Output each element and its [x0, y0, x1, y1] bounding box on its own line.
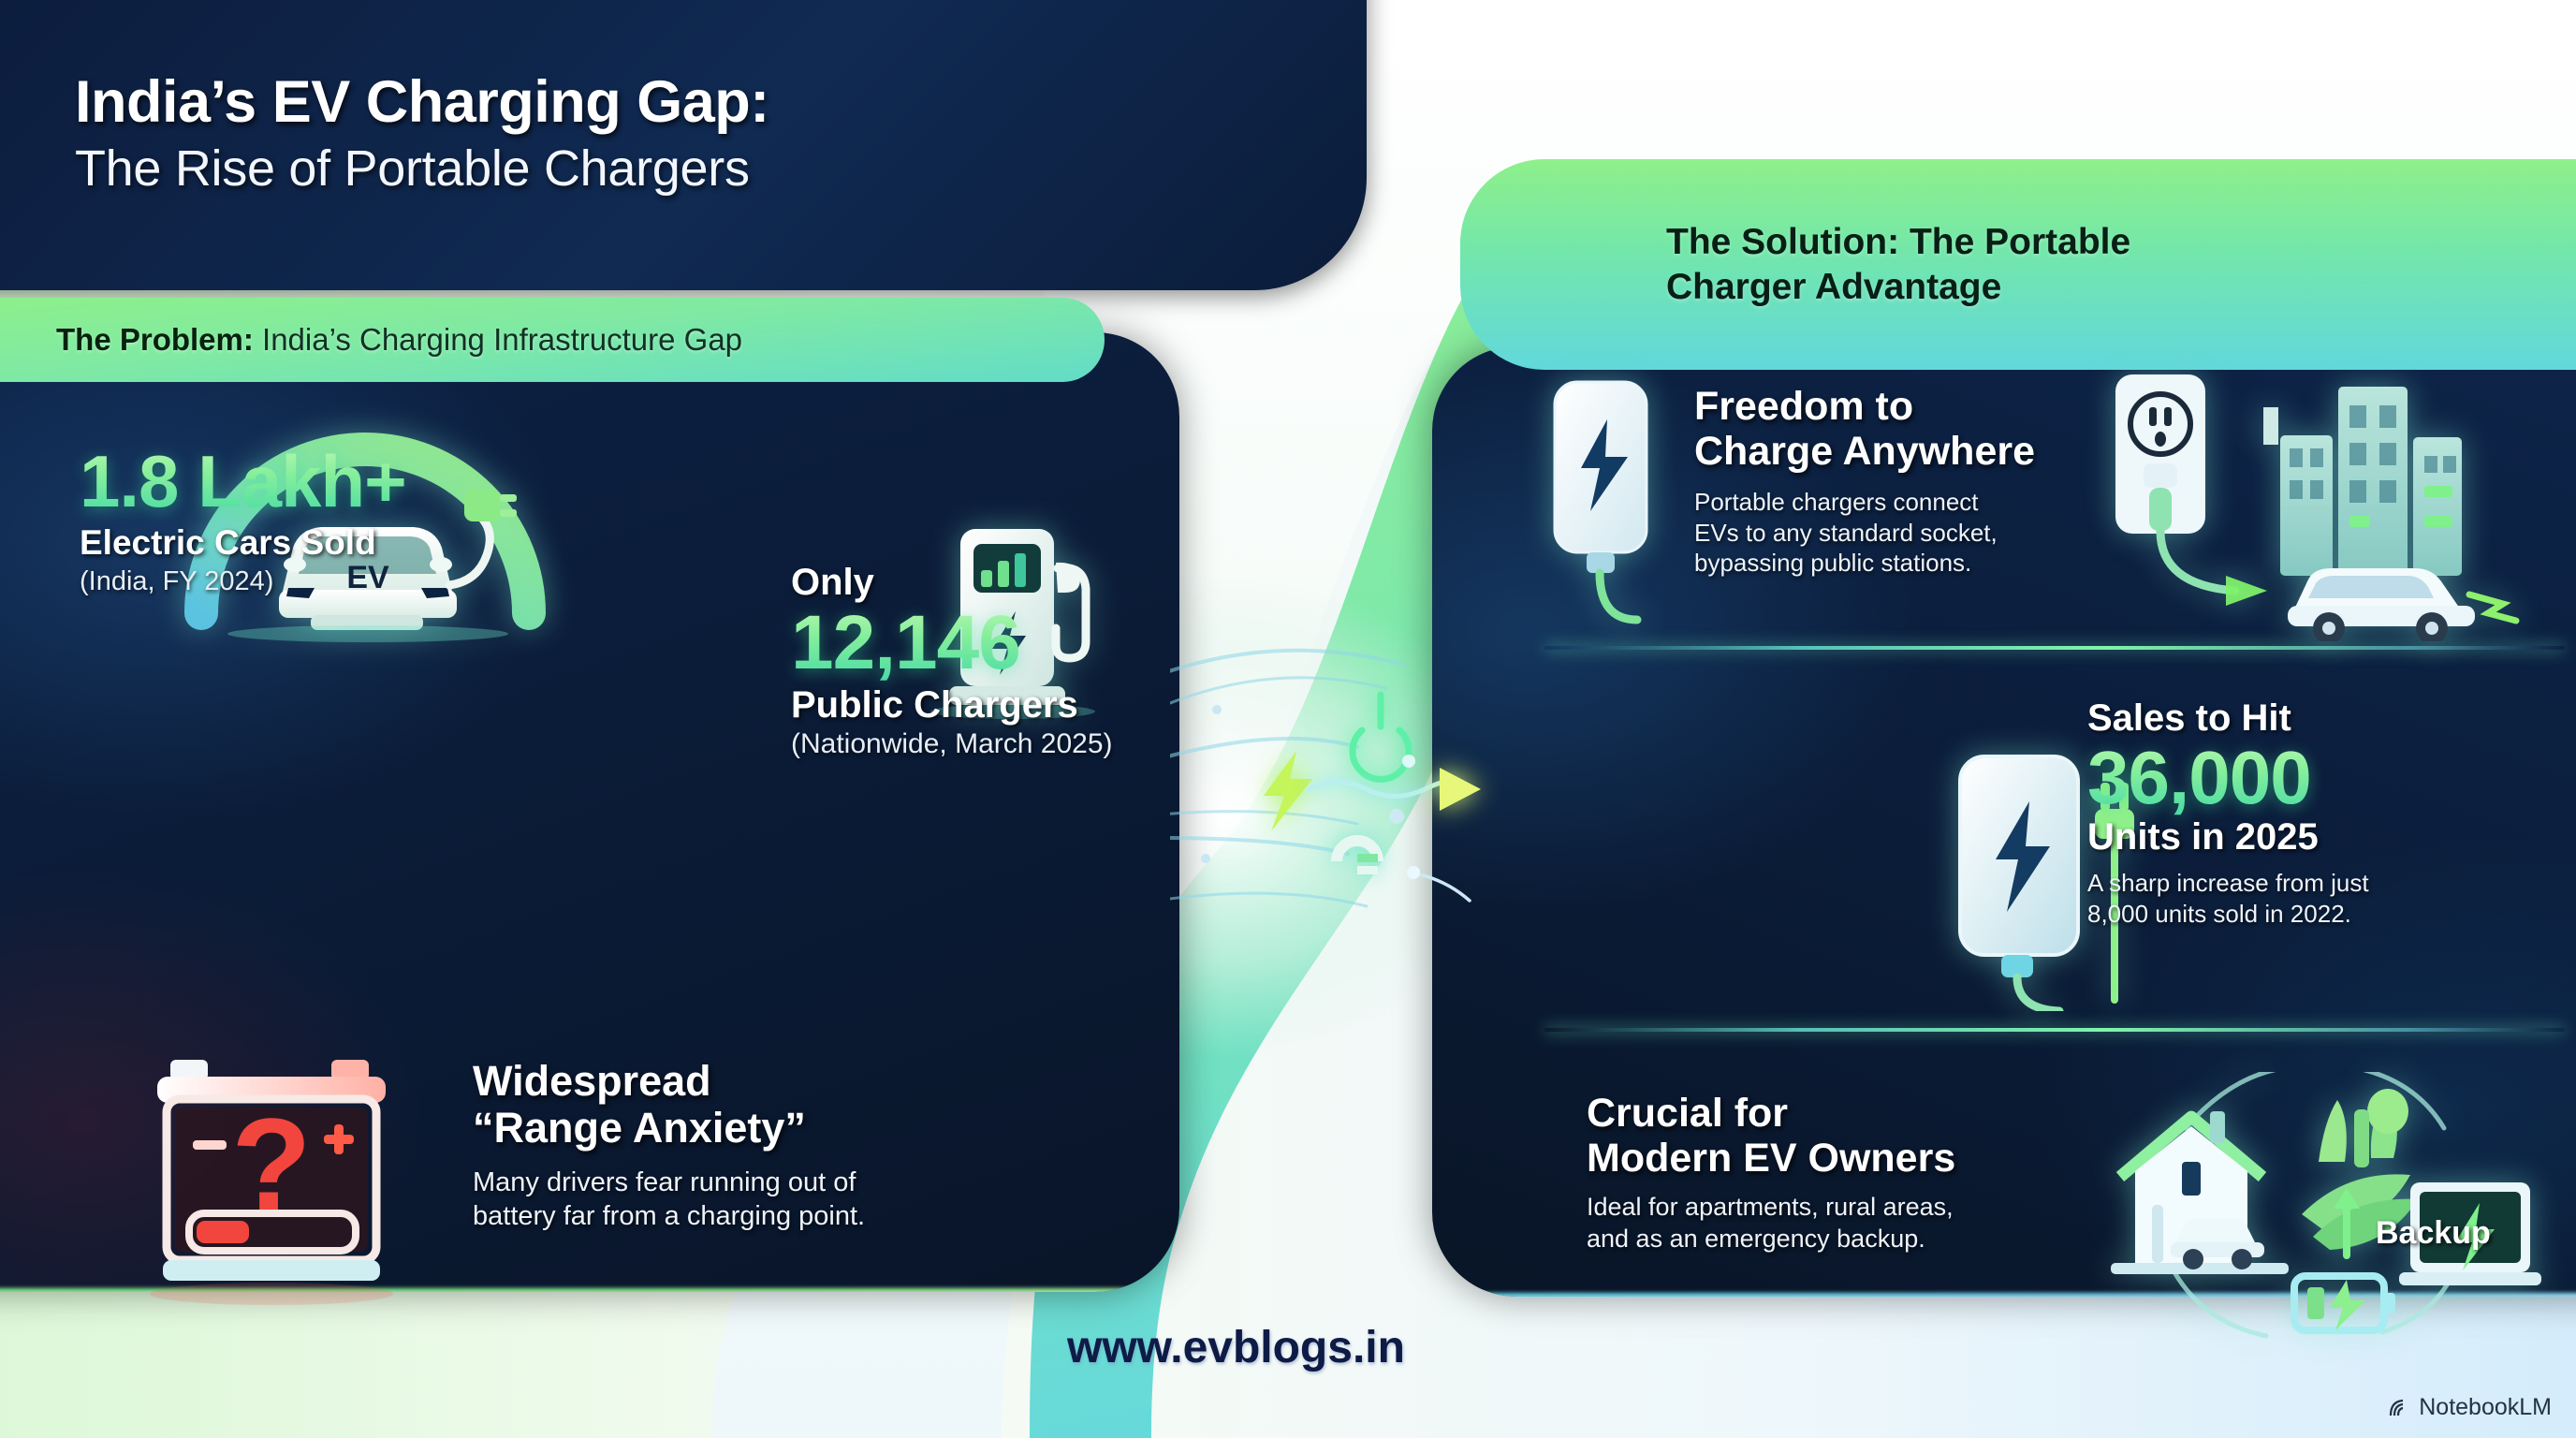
- freedom-body-2: EVs to any standard socket,: [1694, 518, 2106, 549]
- notebooklm-badge: NotebookLM: [2386, 1394, 2552, 1421]
- crucial-head-2: Modern EV Owners: [1587, 1136, 2092, 1181]
- range-anxiety-head-1: Widespread: [473, 1058, 1044, 1105]
- lightning-bolt-icon: [1264, 751, 1312, 831]
- divider-solution-2: [1544, 1028, 2565, 1032]
- crucial-block: Crucial for Modern EV Owners Ideal for a…: [1587, 1091, 2092, 1255]
- stat-electric-cars: 1.8 Lakh+ Electric Cars Sold (India, FY …: [80, 435, 679, 597]
- stat-cars-number: 1.8 Lakh+: [80, 445, 679, 518]
- page-title: India’s EV Charging Gap: The Rise of Por…: [75, 70, 769, 196]
- sales-units: Units in 2025: [2087, 816, 2574, 858]
- stat-cars-label: Electric Cars Sold: [80, 523, 679, 563]
- solution-ribbon-line-2: Charger Advantage: [1666, 265, 2130, 310]
- magnet-icon: [1337, 841, 1378, 874]
- notebooklm-icon: [2386, 1396, 2410, 1420]
- stat-chargers-note: (Nationwide, March 2025): [791, 728, 1371, 760]
- crucial-body-2: and as an emergency backup.: [1587, 1224, 2092, 1255]
- solution-ribbon-line-1: The Solution: The Portable: [1666, 220, 2130, 265]
- sales-body-2: 8,000 units sold in 2022.: [2087, 899, 2574, 930]
- home-rural-backup-ecosystem-icon: [2101, 1072, 2541, 1353]
- range-anxiety-block: Widespread “Range Anxiety” Many drivers …: [473, 1058, 1044, 1233]
- arrow-right-icon: [1440, 768, 1481, 811]
- stat-chargers-label: Public Chargers: [791, 684, 1371, 726]
- crucial-head-1: Crucial for: [1587, 1091, 2092, 1136]
- freedom-head-1: Freedom to: [1694, 384, 2106, 429]
- stat-public-chargers: Only 12,146 Public Chargers (Nationwide,…: [791, 562, 1371, 760]
- stat-chargers-number: 12,146: [791, 604, 1371, 682]
- problem-ribbon-bold: The Problem:: [56, 322, 254, 357]
- freedom-head-2: Charge Anywhere: [1694, 429, 2106, 474]
- range-anxiety-body-1: Many drivers fear running out of: [473, 1166, 1044, 1199]
- infographic-canvas: India’s EV Charging Gap: The Rise of Por…: [0, 0, 2576, 1438]
- stat-cars-note: (India, FY 2024): [80, 566, 679, 597]
- stat-chargers-prefix: Only: [791, 562, 1371, 604]
- sales-block: Sales to Hit 36,000 Units in 2025 A shar…: [2087, 697, 2574, 929]
- wall-socket-city-car-icon: [2106, 370, 2565, 641]
- crucial-body-1: Ideal for apartments, rural areas,: [1587, 1192, 2092, 1224]
- freedom-block: Freedom to Charge Anywhere Portable char…: [1694, 384, 2106, 579]
- sales-body-1: A sharp increase from just: [2087, 868, 2574, 899]
- notebooklm-label: NotebookLM: [2419, 1394, 2552, 1421]
- sales-number: 36,000: [2087, 740, 2574, 816]
- title-line-1: India’s EV Charging Gap:: [75, 70, 769, 134]
- range-anxiety-body-2: battery far from a charging point.: [473, 1199, 1044, 1233]
- range-anxiety-head-2: “Range Anxiety”: [473, 1105, 1044, 1152]
- sales-label: Sales to Hit: [2087, 697, 2574, 740]
- footer-url[interactable]: www.evblogs.in: [1067, 1322, 1405, 1373]
- backup-label: Backup: [2376, 1215, 2491, 1252]
- title-line-2: The Rise of Portable Chargers: [75, 141, 769, 196]
- freedom-body-3: bypassing public stations.: [1694, 548, 2106, 579]
- battery-question-icon: ?: [131, 1039, 412, 1320]
- solution-ribbon: The Solution: The Portable Charger Advan…: [1460, 159, 2576, 370]
- problem-ribbon: The Problem: India’s Charging Infrastruc…: [0, 298, 1105, 382]
- divider-solution-1: [1544, 646, 2565, 650]
- problem-ribbon-rest: India’s Charging Infrastructure Gap: [254, 322, 742, 357]
- portable-charger-icon: [1540, 374, 1680, 646]
- freedom-body-1: Portable chargers connect: [1694, 487, 2106, 518]
